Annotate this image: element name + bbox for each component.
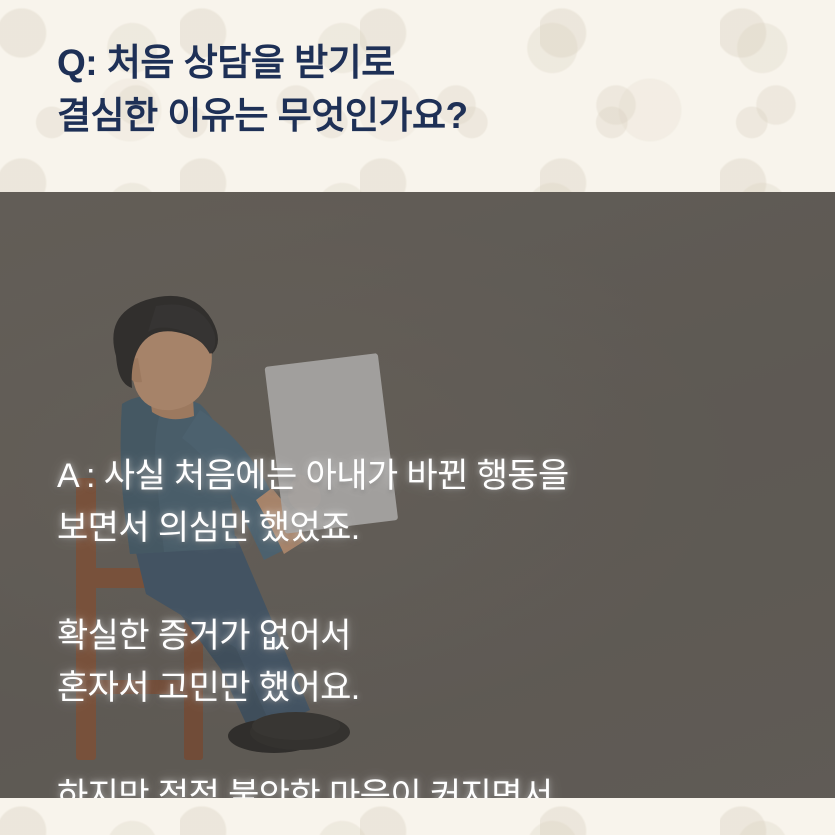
- qa-card: Q: 처음 상담을 받기로 결심한 이유는 무엇인가요?: [0, 0, 835, 835]
- photo-panel: A : 사실 처음에는 아내가 바뀐 행동을 보면서 의심만 했었죠. 확실한 …: [0, 192, 835, 798]
- answer-paragraph-2: 확실한 증거가 없어서 혼자서 고민만 했어요.: [57, 610, 797, 714]
- question-text: Q: 처음 상담을 받기로 결심한 이유는 무엇인가요?: [57, 36, 757, 142]
- answer-paragraph-1: A : 사실 처음에는 아내가 바뀐 행동을 보면서 의심만 했었죠.: [57, 450, 797, 554]
- paper-band-bottom: [0, 798, 835, 835]
- answer-paragraph-3: 하지만 점점 불안한 마음이 커지면서, 더 이상 혼자 고민하지 않기로 결심…: [57, 770, 797, 798]
